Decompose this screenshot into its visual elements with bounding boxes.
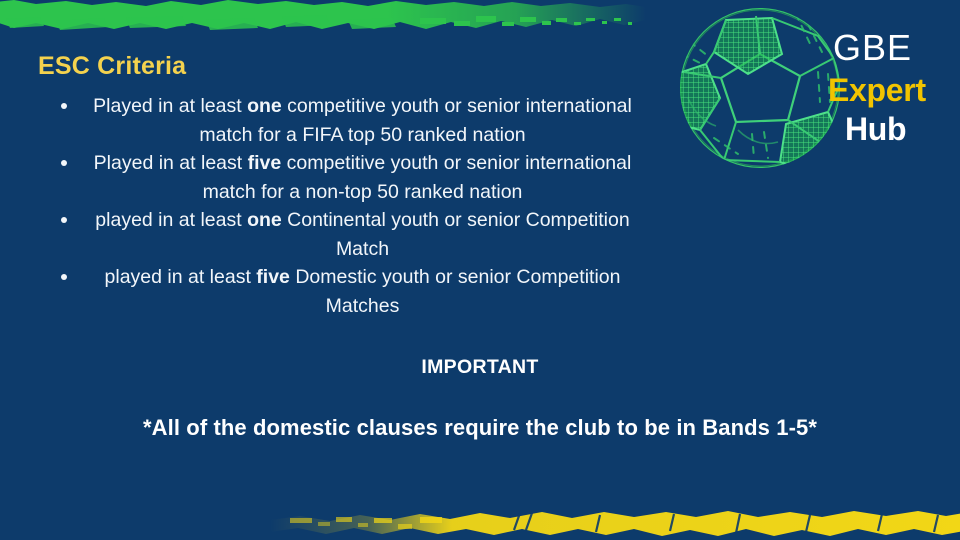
important-heading: IMPORTANT: [0, 356, 960, 379]
criteria-text-prefix: played in at least: [95, 209, 247, 231]
important-note: *All of the domestic clauses require the…: [0, 415, 960, 441]
logo-line-expert: Expert: [828, 74, 960, 106]
criteria-text-emphasis: one: [247, 95, 282, 117]
criteria-text-prefix: Played in at least: [94, 152, 248, 174]
bullet-icon: [61, 160, 67, 166]
page-title: ESC Criteria: [38, 52, 186, 81]
logo-line-hub: Hub: [845, 113, 960, 145]
bullet-icon: [61, 274, 67, 280]
criteria-text-suffix: Domestic youth or senior Competition Mat…: [290, 266, 621, 317]
slide-canvas: GBE Expert Hub ESC Criteria Played in at…: [0, 0, 960, 540]
bullet-icon: [61, 217, 67, 223]
criteria-text-prefix: Played in at least: [93, 95, 247, 117]
green-brush-stroke: [0, 0, 646, 34]
list-item: played in at least five Domestic youth o…: [34, 263, 659, 320]
criteria-text-emphasis: one: [247, 209, 282, 231]
criteria-text-prefix: played in at least: [105, 266, 257, 288]
criteria-text-emphasis: five: [248, 152, 282, 174]
criteria-text-emphasis: five: [256, 266, 290, 288]
criteria-text-suffix: Continental youth or senior Competition …: [282, 209, 630, 260]
logo-line-gbe: GBE: [833, 30, 960, 66]
logo-wordmark: GBE Expert Hub: [828, 30, 960, 145]
list-item: Played in at least one competitive youth…: [34, 92, 659, 149]
list-item: Played in at least five competitive yout…: [34, 149, 659, 206]
logo: GBE Expert Hub: [668, 2, 960, 180]
criteria-list: Played in at least one competitive youth…: [34, 92, 659, 320]
bullet-icon: [61, 103, 67, 109]
list-item: played in at least one Continental youth…: [34, 206, 659, 263]
yellow-brush-stroke: [270, 504, 960, 538]
